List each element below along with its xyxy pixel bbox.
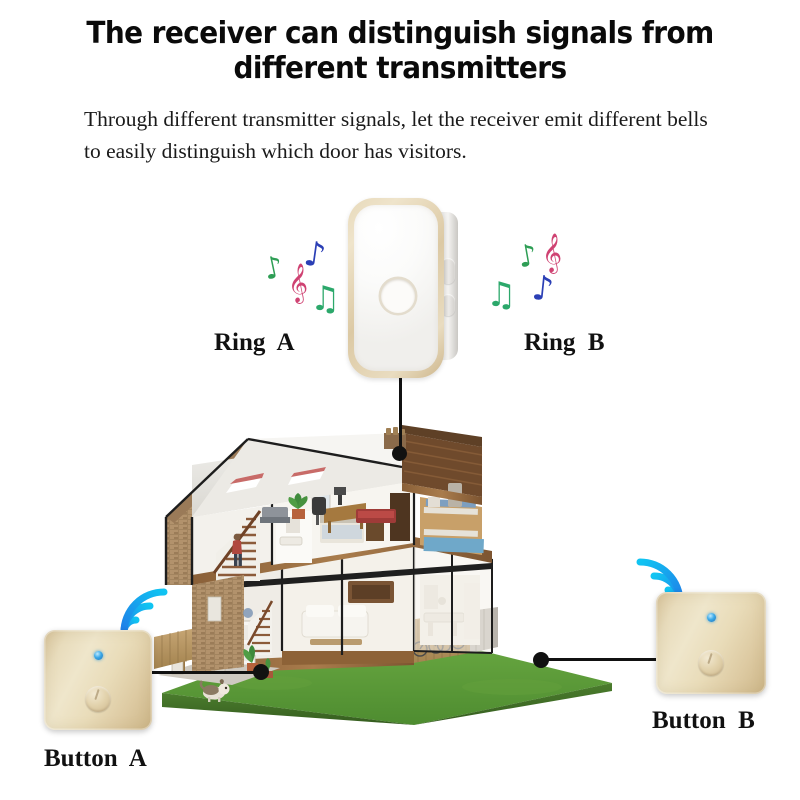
music-note-icon: ♫ [310,282,340,316]
doorbell-push-button-a[interactable] [44,630,152,730]
connector-button-b-to-back-door [540,658,658,661]
connector-dot-back-door [533,652,549,668]
wifi-signal-button-a [118,578,182,638]
connector-receiver-to-house [399,378,402,452]
receiver-body [348,198,444,378]
label-ring-a: Ring A [214,329,295,357]
connector-dot-receiver-roof [392,446,407,461]
label-ring-b: Ring B [524,329,605,357]
chimney [384,427,406,449]
cutaway-house-illustration [152,425,622,725]
music-note-icon: ♪ [530,271,555,307]
status-led-icon [94,651,103,660]
push-button-b[interactable] [698,650,724,676]
music-note-icon: ♪ [261,252,286,285]
label-button-a: Button A [44,745,147,773]
kitchen-extension [414,545,492,653]
wireless-doorbell-receiver[interactable] [348,198,456,378]
receiver-face [354,205,438,371]
music-notes-right: ♫♪𝄞♪ [484,228,588,328]
music-note-icon: 𝄞 [288,266,308,300]
brick-front-column [192,575,253,673]
connector-dot-front-door [253,664,269,680]
status-led-icon [707,613,716,622]
push-button-a[interactable] [85,686,111,712]
receiver-speaker-ring [381,279,415,313]
doorbell-push-button-b[interactable] [656,592,766,694]
page-subtitle: Through different transmitter signals, l… [84,104,724,167]
label-button-b: Button B [652,707,755,735]
music-note-icon: 𝄞 [542,236,562,270]
page-headline: The receiver can distinguish signals fro… [84,16,716,86]
music-note-icon: ♫ [486,278,516,312]
music-notes-left: ♪♪𝄞♫ [258,232,362,332]
connector-button-a-to-front-door [152,671,260,674]
